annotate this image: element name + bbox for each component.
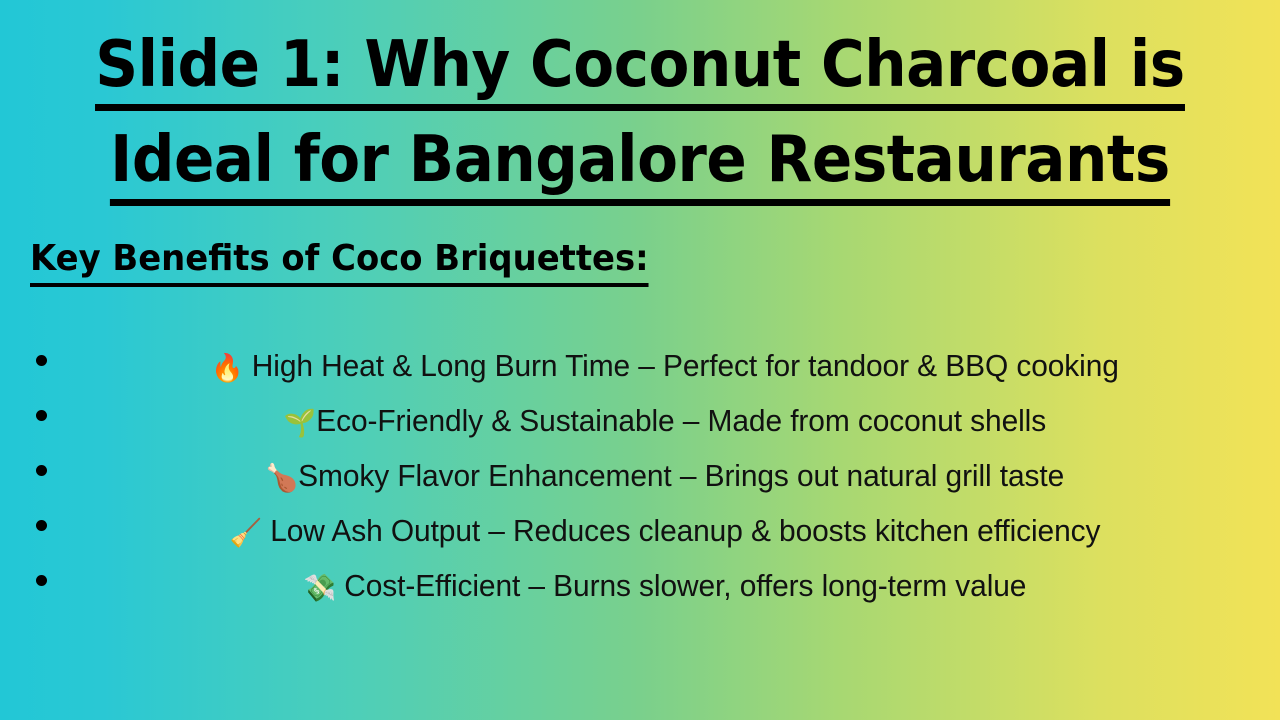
bullet-dot-icon <box>36 355 47 366</box>
bullet-dot-icon <box>36 465 47 476</box>
bullet-dot-icon <box>36 410 47 421</box>
list-item: 🧹 Low Ash Output – Reduces cleanup & boo… <box>0 505 1280 559</box>
slide-title-line-1: Slide 1: Why Coconut Charcoal is <box>45 18 1235 113</box>
section-subheading: Key Benefits of Coco Briquettes: <box>30 236 649 287</box>
presentation-slide: Slide 1: Why Coconut Charcoal is Ideal f… <box>0 0 1280 720</box>
poultry-leg-emoji: 🍗 <box>266 463 298 494</box>
list-item-label: Smoky Flavor Enhancement – Brings out na… <box>298 458 1064 493</box>
broom-emoji: 🧹 <box>230 518 262 549</box>
bullet-dot-icon <box>36 520 47 531</box>
list-item: 🌱Eco-Friendly & Sustainable – Made from … <box>0 395 1280 449</box>
list-item-label: High Heat & Long Burn Time – Perfect for… <box>252 348 1119 383</box>
list-item-label: Low Ash Output – Reduces cleanup & boost… <box>270 513 1100 548</box>
list-item-content: 🧹 Low Ash Output – Reduces cleanup & boo… <box>97 505 1234 559</box>
list-item-content: 🔥 High Heat & Long Burn Time – Perfect f… <box>97 340 1234 394</box>
bullet-dot-icon <box>36 575 47 586</box>
list-item-label: Cost-Efficient – Burns slower, offers lo… <box>344 568 1026 603</box>
list-item-content: 🍗Smoky Flavor Enhancement – Brings out n… <box>97 450 1234 504</box>
slide-title-line-2-text: Ideal for Bangalore Restaurants <box>110 123 1170 206</box>
list-item: 💸 Cost-Efficient – Burns slower, offers … <box>0 560 1280 614</box>
money-with-wings-emoji: 💸 <box>304 573 336 604</box>
list-item: 🔥 High Heat & Long Burn Time – Perfect f… <box>0 340 1280 394</box>
benefits-list: 🔥 High Heat & Long Burn Time – Perfect f… <box>0 340 1280 615</box>
slide-title: Slide 1: Why Coconut Charcoal is Ideal f… <box>0 18 1280 208</box>
list-item-content: 💸 Cost-Efficient – Burns slower, offers … <box>97 560 1234 614</box>
slide-title-line-2: Ideal for Bangalore Restaurants <box>45 113 1235 208</box>
fire-emoji: 🔥 <box>211 353 243 384</box>
list-item: 🍗Smoky Flavor Enhancement – Brings out n… <box>0 450 1280 504</box>
seedling-emoji: 🌱 <box>284 408 316 439</box>
slide-title-line-1-text: Slide 1: Why Coconut Charcoal is <box>95 28 1184 111</box>
section-subheading-text: Key Benefits of Coco Briquettes: <box>30 236 649 287</box>
list-item-content: 🌱Eco-Friendly & Sustainable – Made from … <box>97 395 1234 449</box>
list-item-label: Eco-Friendly & Sustainable – Made from c… <box>316 403 1046 438</box>
